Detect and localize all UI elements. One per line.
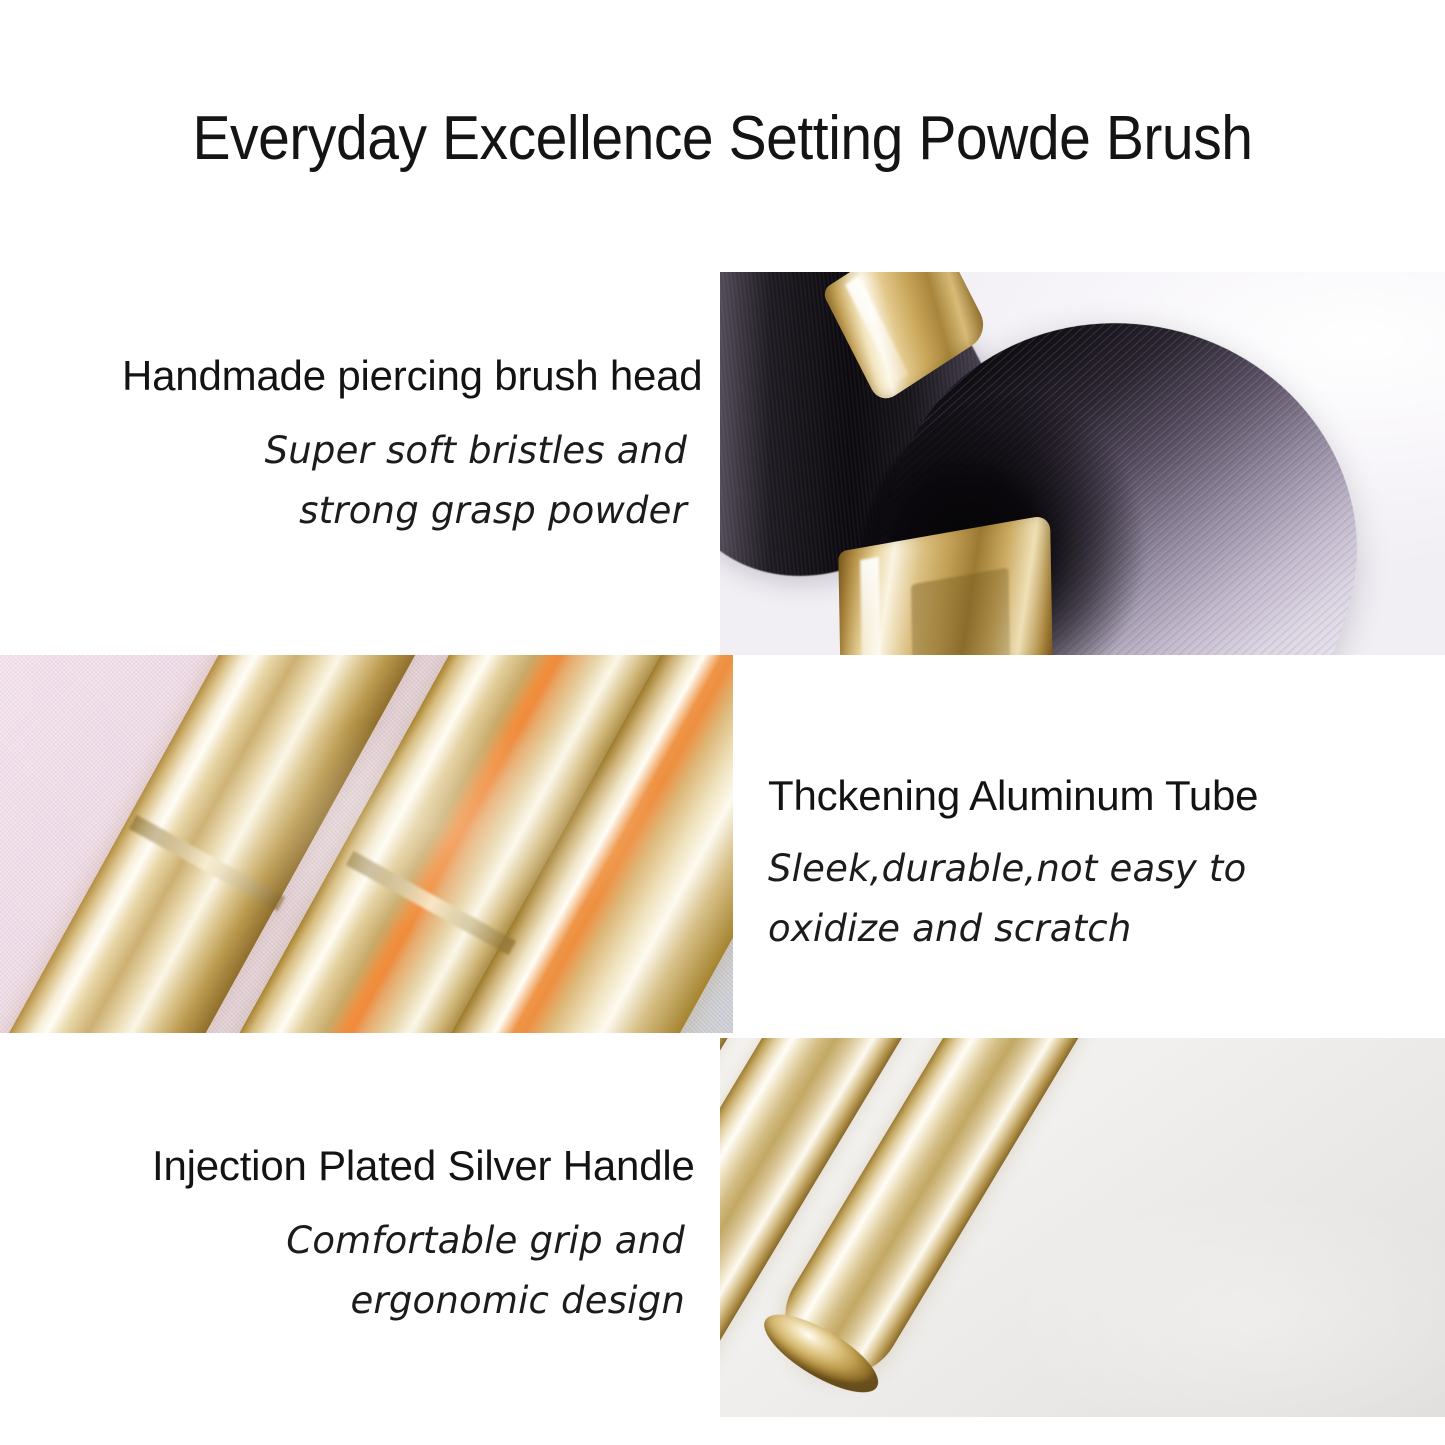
photo-gold-tubes — [0, 655, 733, 1033]
feature-block-thickening-aluminum-tube: Thckening Aluminum Tube Sleek,durable,no… — [768, 775, 1328, 959]
feature-heading-2: Thckening Aluminum Tube — [768, 775, 1328, 817]
feature-subtext-3-line-2: ergonomic design — [152, 1271, 685, 1331]
feature-subtext-1-line-1: Super soft bristles and — [122, 421, 687, 481]
feature-subtext-2: Sleek,durable,not easy to oxidize and sc… — [768, 839, 1328, 959]
feature-block-handmade-brush-head: Handmade piercing brush head Super soft … — [122, 355, 687, 541]
feature-subtext-2-line-1: Sleek,durable,not easy to — [768, 839, 1328, 899]
feature-block-injection-plated-silver-handle: Injection Plated Silver Handle Comfortab… — [152, 1145, 685, 1331]
feature-subtext-2-line-2: oxidize and scratch — [768, 899, 1328, 959]
page-title: Everyday Excellence Setting Powde Brush — [58, 108, 1387, 170]
infographic-page: Everyday Excellence Setting Powde Brush … — [0, 0, 1445, 1445]
feature-heading-1: Handmade piercing brush head — [122, 355, 687, 397]
photo-brush-heads — [720, 272, 1445, 655]
feature-subtext-3-line-1: Comfortable grip and — [152, 1211, 685, 1271]
feature-subtext-1-line-2: strong grasp powder — [122, 481, 687, 541]
feature-heading-3: Injection Plated Silver Handle — [152, 1145, 685, 1187]
feature-subtext-1: Super soft bristles and strong grasp pow… — [122, 421, 687, 541]
photo-handles — [720, 1038, 1445, 1417]
feature-subtext-3: Comfortable grip and ergonomic design — [152, 1211, 685, 1331]
